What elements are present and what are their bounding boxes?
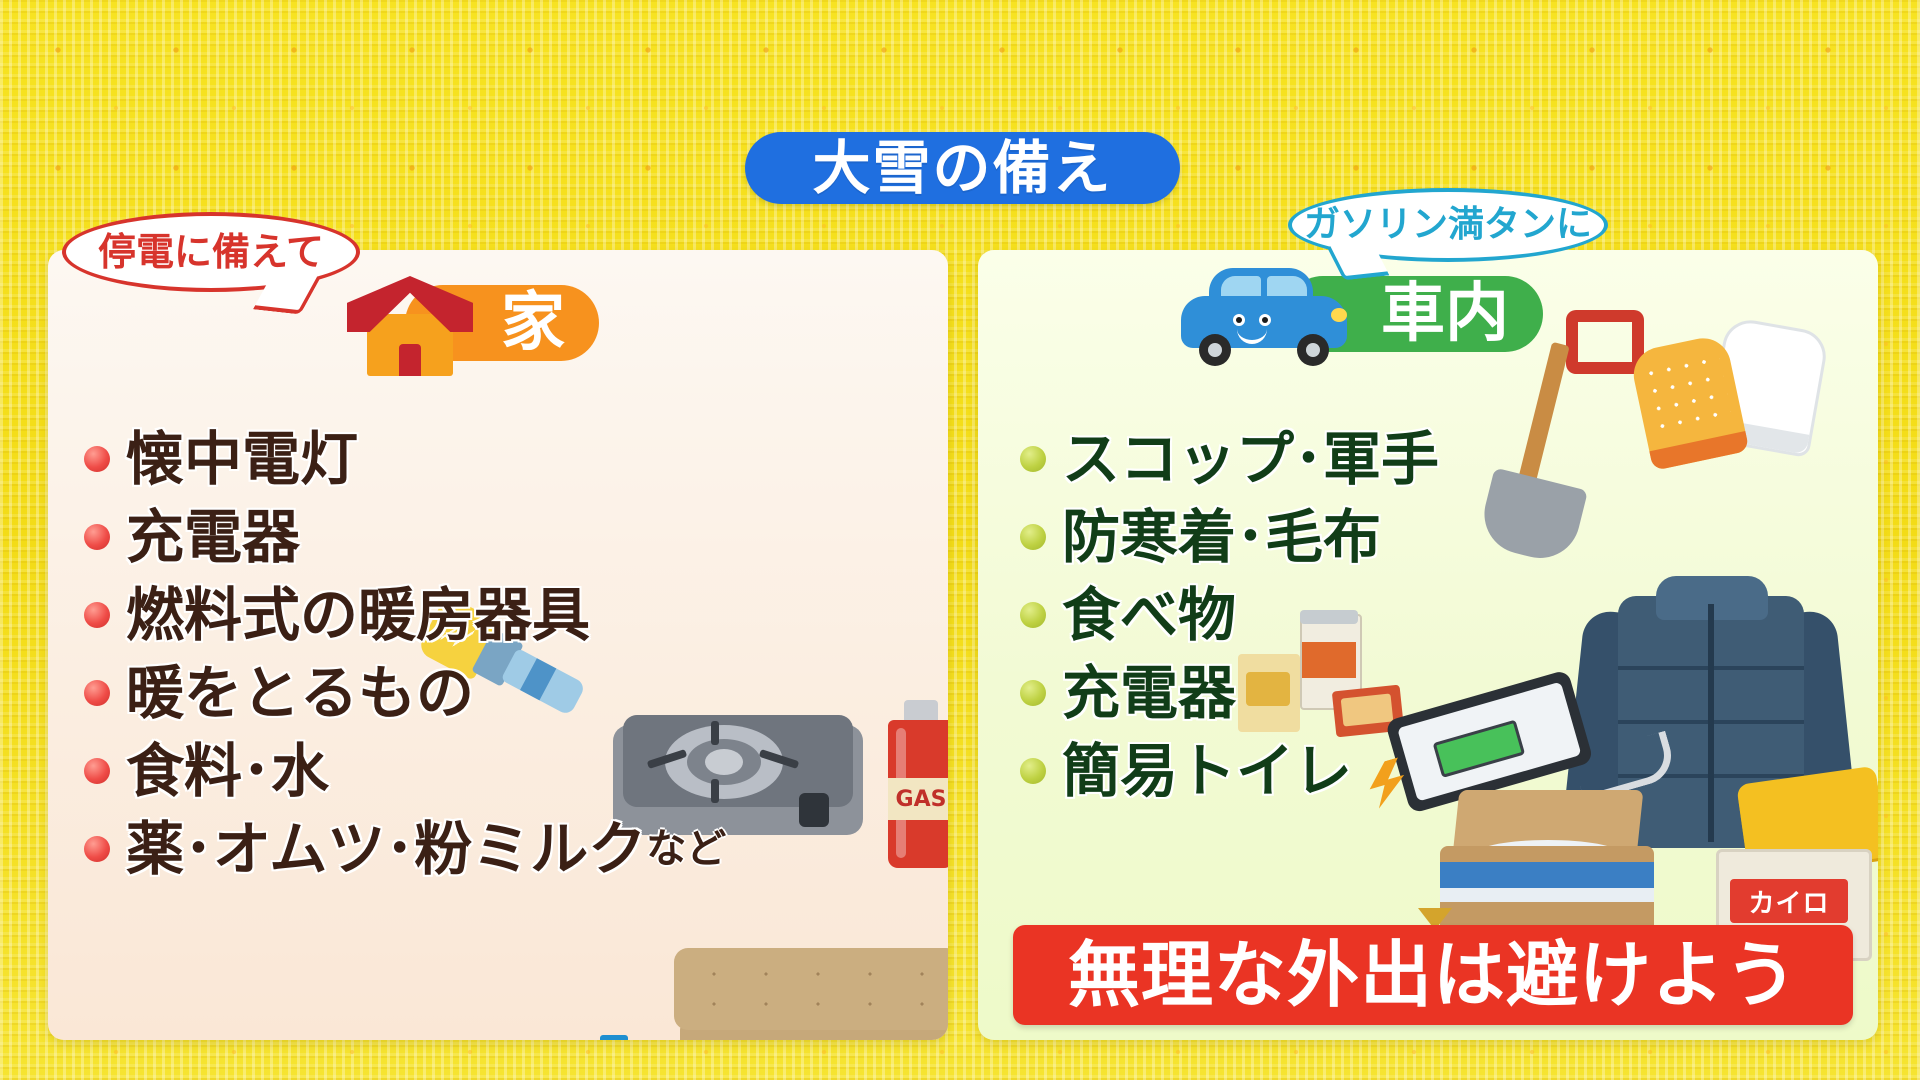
warning-banner-text: 無理な外出は避けよう <box>1068 939 1798 1011</box>
list-item-suffix: など <box>646 829 726 869</box>
list-item-label: 充電器 <box>126 508 300 566</box>
home-supplies-list: 懐中電灯 充電器 燃料式の暖房器具 暖をとるもの 食料･水 薬･オムツ･粉ミルク… <box>84 430 726 898</box>
bullet-icon <box>84 680 110 706</box>
list-item: 食料･水 <box>84 742 726 800</box>
list-item-label: 懐中電灯 <box>126 430 358 488</box>
left-badge-label: 家 <box>501 291 565 355</box>
warning-banner: 無理な外出は避けよう <box>1013 925 1853 1025</box>
bullet-icon <box>84 836 110 862</box>
bullet-icon <box>1020 680 1046 706</box>
left-panel-bubble: 停電に備えて <box>62 212 360 292</box>
list-item: 簡易トイレ <box>1020 742 1439 800</box>
house-icon <box>345 268 475 378</box>
bullet-icon <box>84 758 110 784</box>
list-item-label: 食べ物 <box>1062 586 1236 644</box>
list-item: 食べ物 <box>1020 586 1439 644</box>
folded-blanket-illustration <box>668 930 948 1040</box>
bullet-icon <box>1020 446 1046 472</box>
list-item: 燃料式の暖房器具 <box>84 586 726 644</box>
gas-cartridge-illustration: GAS <box>880 698 948 873</box>
infographic-canvas: 大雪の備え GAS <box>0 0 1920 1080</box>
page-title-text: 大雪の備え <box>812 139 1112 197</box>
list-item-label: 防寒着･毛布 <box>1062 508 1381 566</box>
bullet-icon <box>84 602 110 628</box>
bullet-icon <box>1020 758 1046 784</box>
list-item-label: 簡易トイレ <box>1062 742 1352 800</box>
bullet-icon <box>1020 524 1046 550</box>
list-item: 暖をとるもの <box>84 664 726 722</box>
car-supplies-list: スコップ･軍手 防寒着･毛布 食べ物 充電器 簡易トイレ <box>1020 430 1439 820</box>
list-item-label: 暖をとるもの <box>126 664 474 722</box>
list-item-label: 充電器 <box>1062 664 1236 722</box>
page-title: 大雪の備え <box>745 132 1180 204</box>
right-badge-label: 車内 <box>1381 282 1509 346</box>
bullet-icon <box>84 446 110 472</box>
list-item-label: 薬･オムツ･粉ミルク <box>126 820 646 878</box>
list-item: スコップ･軍手 <box>1020 430 1439 488</box>
bullet-icon <box>1020 602 1046 628</box>
car-icon <box>1175 262 1355 366</box>
heat-pack-label: カイロ <box>1748 883 1829 920</box>
list-item-label: 食料･水 <box>126 742 329 800</box>
list-item: 懐中電灯 <box>84 430 726 488</box>
list-item: 充電器 <box>1020 664 1439 722</box>
work-gloves-illustration <box>1640 318 1840 478</box>
right-panel-bubble: ガソリン満タンに <box>1288 188 1608 262</box>
bullet-icon <box>84 524 110 550</box>
right-bubble-text: ガソリン満タンに <box>1304 207 1592 243</box>
list-item: 薬･オムツ･粉ミルク など <box>84 820 726 878</box>
left-bubble-text: 停電に備えて <box>98 233 324 271</box>
left-panel-header: 家 <box>345 268 599 378</box>
water-bottle-illustration: 水 <box>578 1035 650 1040</box>
gas-cartridge-label: GAS <box>896 787 947 812</box>
list-item-label: スコップ･軍手 <box>1062 430 1439 488</box>
list-item: 充電器 <box>84 508 726 566</box>
list-item-label: 燃料式の暖房器具 <box>126 586 590 644</box>
list-item: 防寒着･毛布 <box>1020 508 1439 566</box>
